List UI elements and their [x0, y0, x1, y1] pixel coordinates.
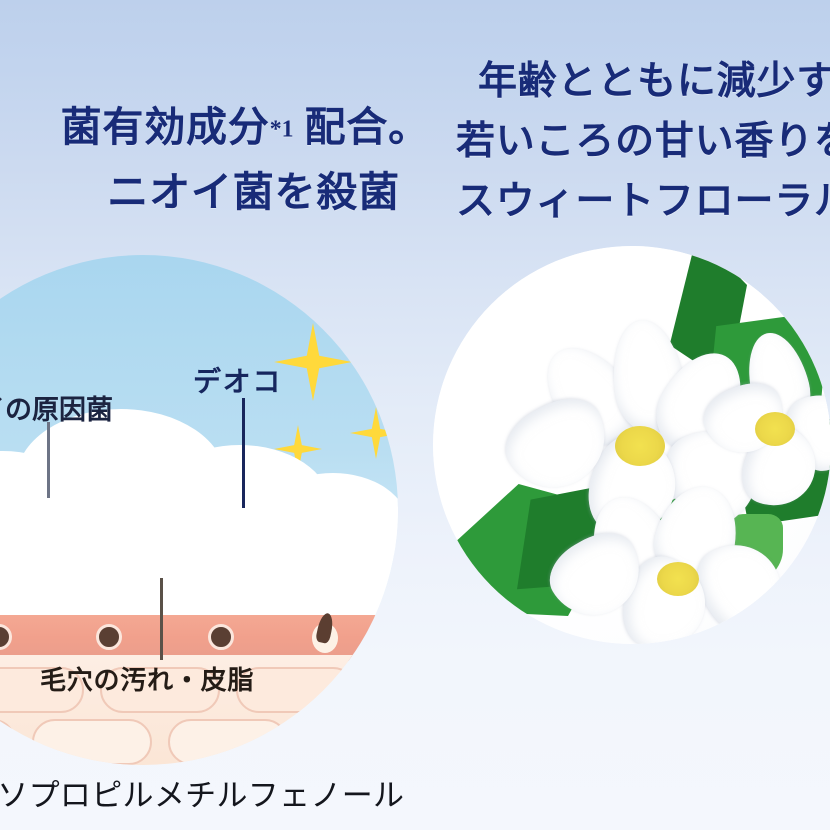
footnote-reference-mark: *1 [270, 117, 294, 143]
headline-left-line1-tail: 配合。 [293, 104, 430, 150]
headline-left-line1-text: 菌有効成分 [61, 104, 270, 150]
flower-center [755, 412, 795, 446]
leader-line-germ [47, 422, 50, 498]
product-feature-banner: 菌有効成分*1 配合。 ニオイ菌を殺菌 年齢とともに減少する 若いころの甘い香り… [0, 0, 830, 830]
headline-left-line2: ニオイ菌を殺菌 [0, 161, 430, 223]
skin-cell-row [0, 719, 398, 765]
headline-left: 菌有効成分*1 配合。 ニオイ菌を殺菌 [0, 96, 430, 223]
headline-right: 年齢とともに減少する 若いころの甘い香りを補 スウィートフローラルの香 [456, 52, 830, 232]
label-germ: イの原因菌 [0, 388, 113, 427]
leader-line-pore [160, 578, 163, 660]
headline-right-line3: スウィートフローラルの香 [456, 172, 830, 232]
flower-center [615, 426, 665, 466]
cloud-puff [258, 473, 398, 577]
headline-right-line1: 年齢とともに減少する [456, 52, 830, 112]
sparkle-icon [274, 323, 352, 401]
footnote-text: イソプロピルメチルフェノール [0, 770, 404, 815]
jasmine-photo-circle [433, 246, 830, 644]
pore-dot [208, 624, 234, 650]
pore-dot [96, 624, 122, 650]
flower-center [657, 562, 699, 596]
leader-line-brand [242, 398, 245, 508]
label-pore: 毛穴の汚れ・皮脂 [40, 660, 254, 697]
headline-right-line2: 若いころの甘い香りを補 [456, 112, 830, 172]
headline-left-line1: 菌有効成分*1 配合。 [0, 96, 430, 161]
skin-surface-layer [0, 615, 398, 657]
sparkle-icon [350, 407, 398, 459]
label-brand: デオコ [193, 360, 282, 400]
